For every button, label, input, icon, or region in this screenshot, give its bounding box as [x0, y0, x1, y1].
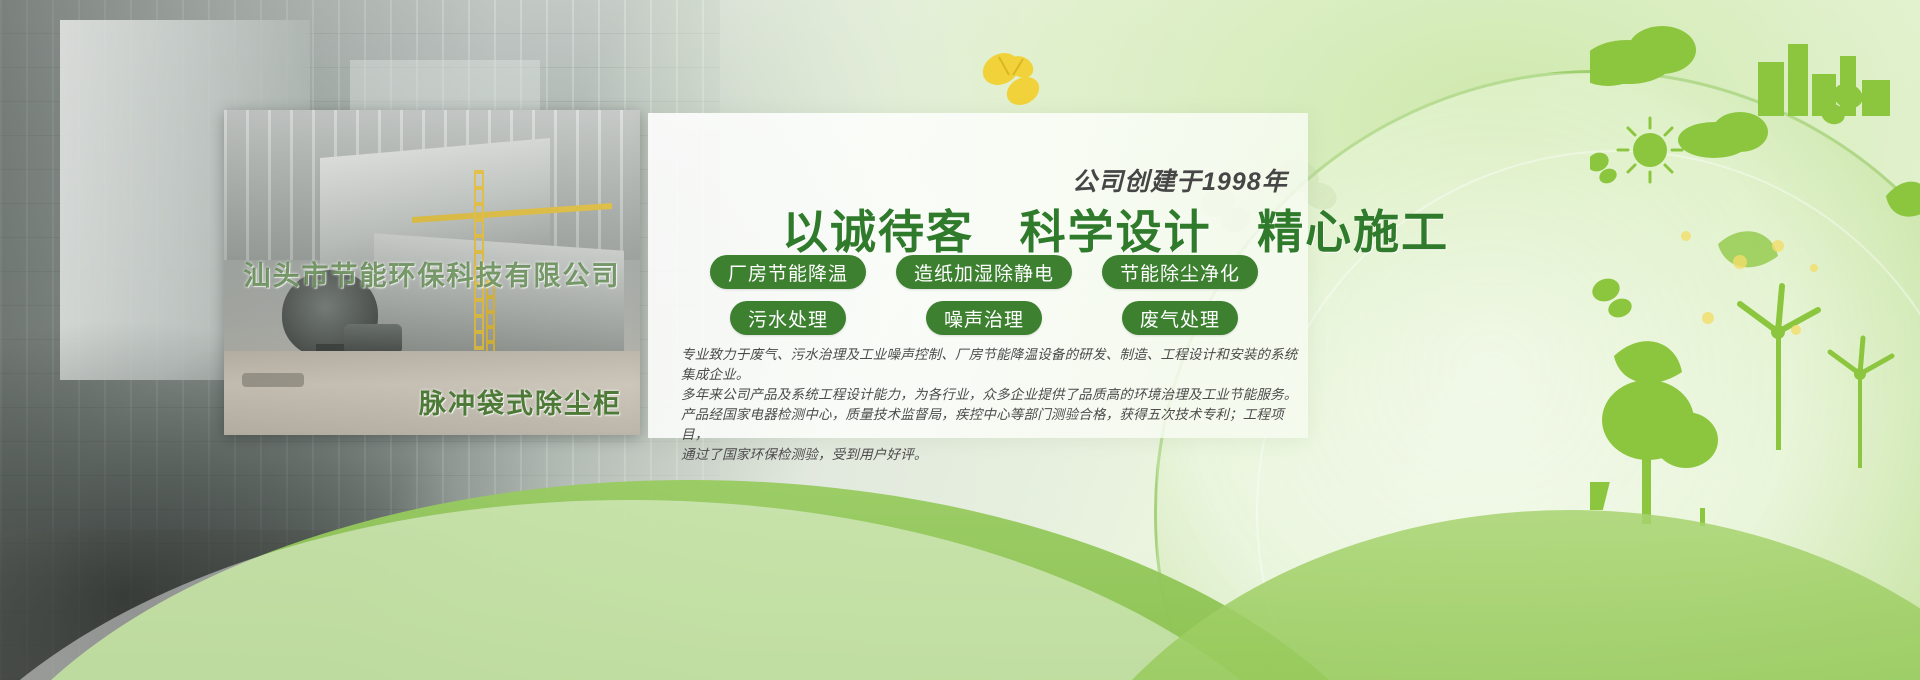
service-tag-noise[interactable]: 噪声治理	[926, 301, 1042, 335]
product-photo-card[interactable]: 汕头市节能环保科技有限公司 脉冲袋式除尘柜	[224, 110, 640, 435]
headline-part-1: 以诚待客	[782, 206, 974, 258]
service-tag-row-1: 厂房节能降温 造纸加湿除静电 节能除尘净化	[690, 255, 1290, 289]
photo-watermark: 汕头市节能环保科技有限公司	[224, 254, 640, 293]
description-line-4: 通过了国家环保检测验，受到用户好评。	[681, 445, 1305, 465]
service-tag-dust-purify[interactable]: 节能除尘净化	[1102, 255, 1258, 289]
service-tag-factory-cooling[interactable]: 厂房节能降温	[710, 255, 866, 289]
service-tag-paper-humidify[interactable]: 造纸加湿除静电	[896, 255, 1072, 289]
headline-part-2: 科学设计	[1020, 206, 1212, 258]
founding-year-kicker: 公司创建于1998年	[1072, 162, 1288, 198]
headline-slogan: 以诚待客 科学设计 精心施工	[782, 196, 1449, 262]
service-tag-list: 厂房节能降温 造纸加湿除静电 节能除尘净化 污水处理 噪声治理 废气处理	[690, 255, 1290, 347]
description-line-3: 产品经国家电器检测中心，质量技术监督局，疾控中心等部门测验合格，获得五次技术专利…	[681, 405, 1305, 445]
promo-banner: 汕头市节能环保科技有限公司 脉冲袋式除尘柜 公司创建于1998年 以诚待客 科学…	[0, 0, 1920, 680]
butterfly-icon	[975, 45, 1055, 120]
photo-caption: 脉冲袋式除尘柜	[419, 382, 622, 421]
service-tag-row-2: 污水处理 噪声治理 废气处理	[690, 301, 1290, 335]
service-tag-sewage[interactable]: 污水处理	[730, 301, 846, 335]
company-description: 专业致力于废气、污水治理及工业噪声控制、厂房节能降温设备的研发、制造、工程设计和…	[681, 345, 1305, 465]
headline-part-3: 精心施工	[1257, 206, 1449, 258]
description-line-1: 专业致力于废气、污水治理及工业噪声控制、厂房节能降温设备的研发、制造、工程设计和…	[681, 345, 1305, 385]
description-line-2: 多年来公司产品及系统工程设计能力，为各行业，众多企业提供了品质高的环境治理及工业…	[681, 385, 1305, 405]
service-tag-exhaust-gas[interactable]: 废气处理	[1122, 301, 1238, 335]
